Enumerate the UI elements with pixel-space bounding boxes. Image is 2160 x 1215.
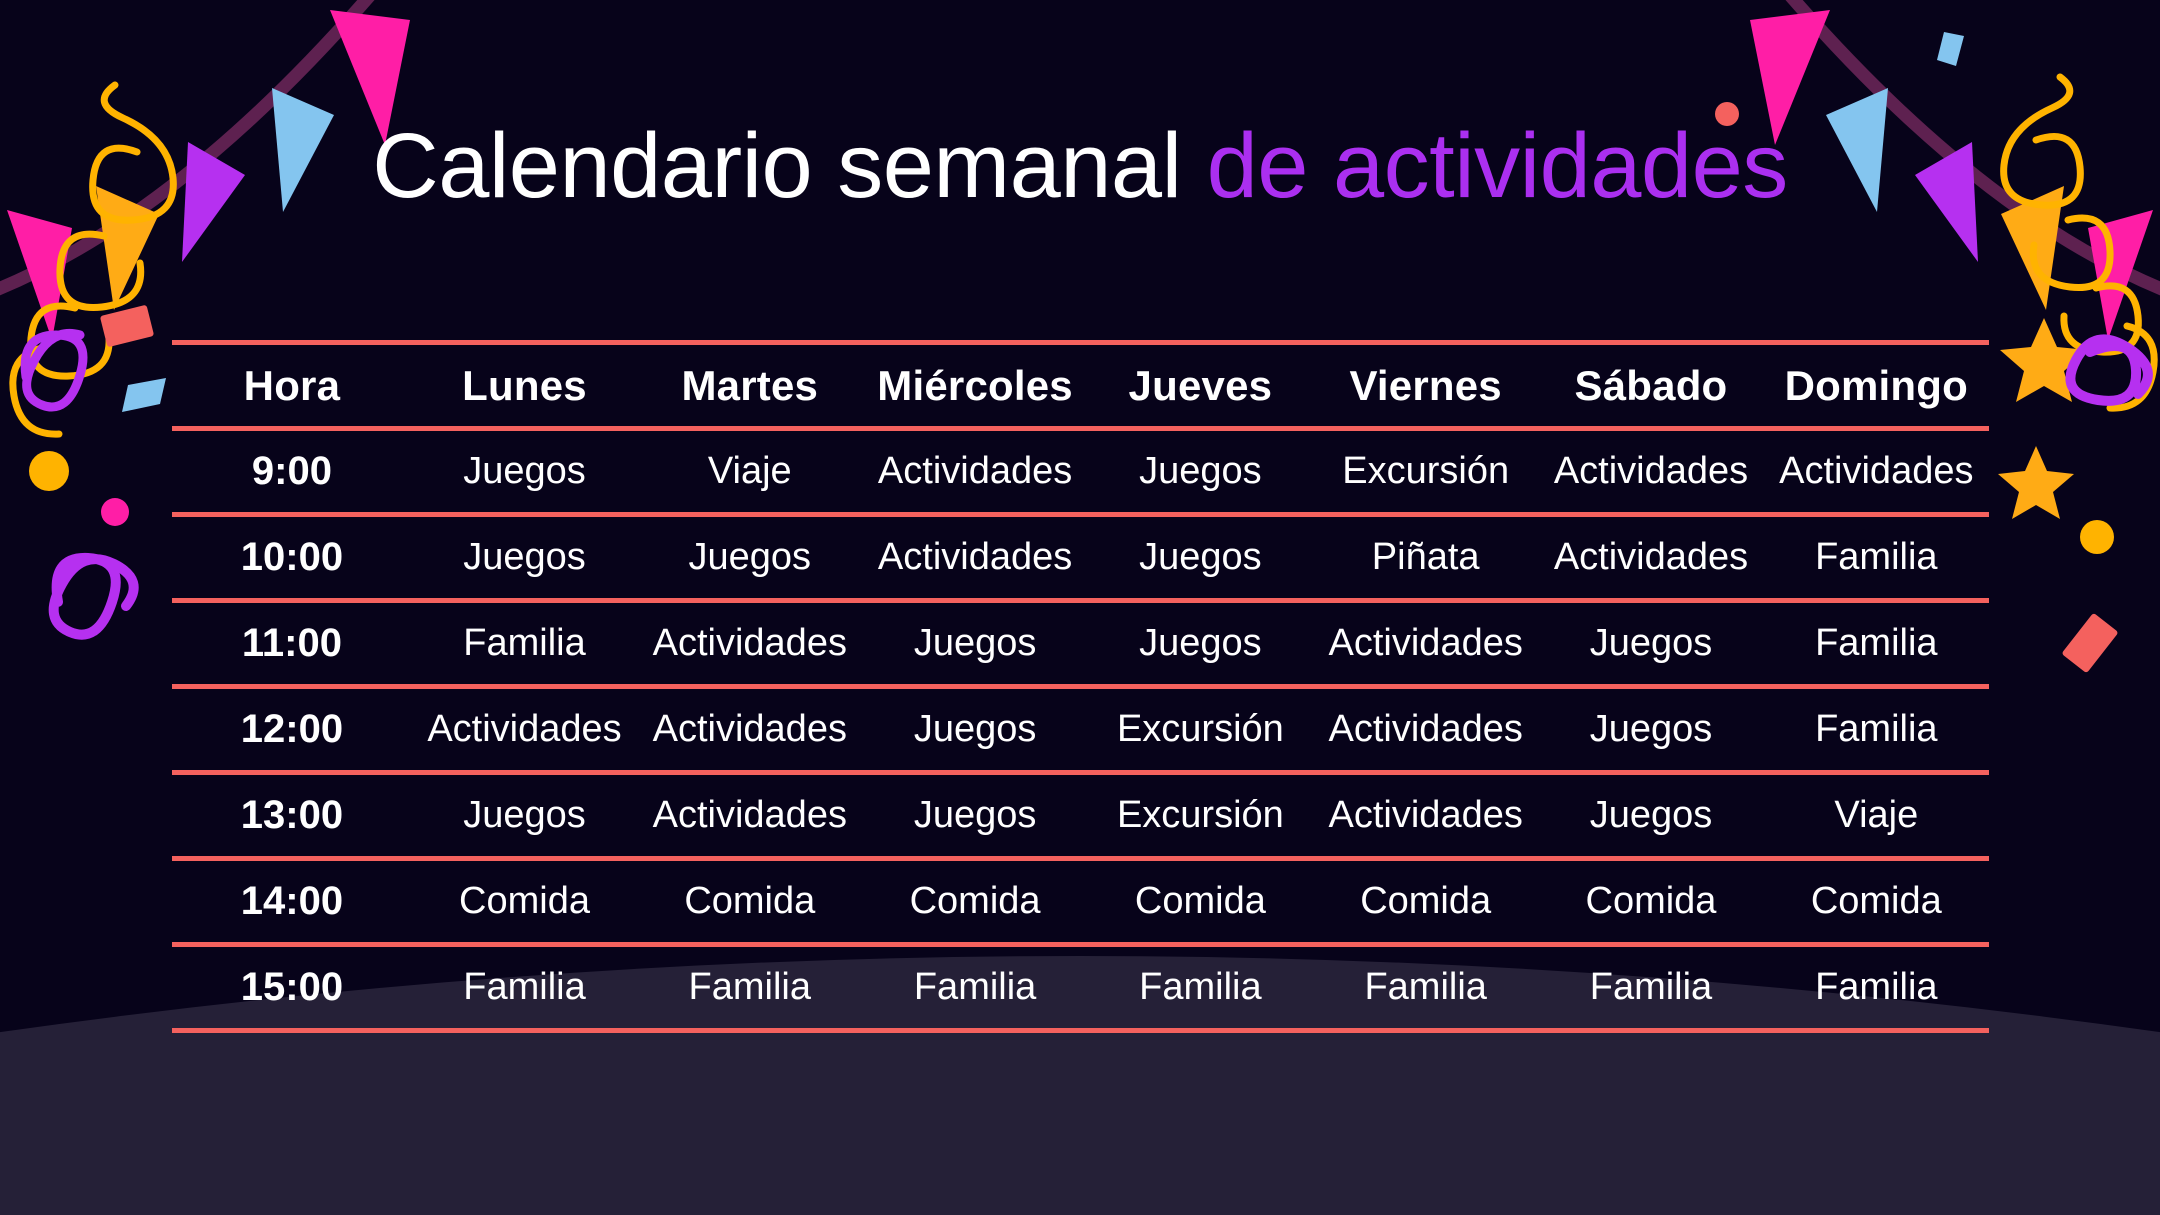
row-time-label: 15:00: [172, 945, 412, 1031]
cell-activity: Familia: [1313, 945, 1538, 1031]
cell-activity: Actividades: [637, 773, 862, 859]
cell-activity: Juegos: [1088, 601, 1313, 687]
cell-activity: Actividades: [1313, 601, 1538, 687]
star-yellow-right-upper: [2000, 318, 2088, 402]
cell-activity: Comida: [1313, 859, 1538, 945]
cell-activity: Familia: [1764, 515, 1989, 601]
table-row: 14:00 Comida Comida Comida Comida Comida…: [172, 859, 1989, 945]
cell-activity: Familia: [637, 945, 862, 1031]
cell-activity: Juegos: [1538, 687, 1763, 773]
cell-activity: Actividades: [862, 515, 1087, 601]
cell-activity: Juegos: [412, 429, 637, 515]
cell-activity: Comida: [1088, 859, 1313, 945]
cell-activity: Actividades: [1538, 429, 1763, 515]
rectangle-coral-left: [100, 305, 154, 348]
cell-activity: Familia: [1764, 687, 1989, 773]
row-time-label: 10:00: [172, 515, 412, 601]
cell-activity: Actividades: [637, 601, 862, 687]
column-header-lunes: Lunes: [412, 343, 637, 429]
cell-activity: Excursión: [1088, 687, 1313, 773]
row-time-label: 11:00: [172, 601, 412, 687]
table-row: 11:00 Familia Actividades Juegos Juegos …: [172, 601, 1989, 687]
squiggle-purple-left-lower: [54, 558, 134, 635]
cell-activity: Juegos: [862, 601, 1087, 687]
cell-activity: Excursión: [1313, 429, 1538, 515]
dot-pink-left: [101, 498, 129, 526]
column-header-domingo: Domingo: [1764, 343, 1989, 429]
cell-activity: Comida: [1764, 859, 1989, 945]
cell-activity: Actividades: [1538, 515, 1763, 601]
cell-activity: Viaje: [637, 429, 862, 515]
cell-activity: Comida: [862, 859, 1087, 945]
column-header-miercoles: Miércoles: [862, 343, 1087, 429]
cell-activity: Juegos: [412, 515, 637, 601]
page-title-primary: Calendario semanal: [372, 115, 1181, 217]
schedule-table-container: Hora Lunes Martes Miércoles Jueves Viern…: [172, 340, 1989, 1033]
column-header-jueves: Jueves: [1088, 343, 1313, 429]
cell-activity: Familia: [1088, 945, 1313, 1031]
cell-activity: Juegos: [1538, 773, 1763, 859]
row-time-label: 13:00: [172, 773, 412, 859]
cell-activity: Familia: [1764, 601, 1989, 687]
column-header-viernes: Viernes: [1313, 343, 1538, 429]
cell-activity: Comida: [412, 859, 637, 945]
page-title-accent: de actividades: [1207, 115, 1788, 217]
slide-canvas: Calendario semanal de actividades Hora L…: [0, 0, 2160, 1215]
cell-activity: Viaje: [1764, 773, 1989, 859]
cell-activity: Actividades: [412, 687, 637, 773]
cell-activity: Actividades: [1313, 687, 1538, 773]
cell-activity: Juegos: [862, 773, 1087, 859]
row-time-label: 14:00: [172, 859, 412, 945]
rectangle-coral-right: [2061, 613, 2118, 674]
column-header-hora: Hora: [172, 343, 412, 429]
cell-activity: Piñata: [1313, 515, 1538, 601]
table-header-row: Hora Lunes Martes Miércoles Jueves Viern…: [172, 343, 1989, 429]
cell-activity: Familia: [1538, 945, 1763, 1031]
table-row: 10:00 Juegos Juegos Actividades Juegos P…: [172, 515, 1989, 601]
cell-activity: Actividades: [637, 687, 862, 773]
cell-activity: Juegos: [1088, 429, 1313, 515]
dot-yellow-left: [29, 451, 69, 491]
cell-activity: Juegos: [1088, 515, 1313, 601]
table-row: 13:00 Juegos Actividades Juegos Excursió…: [172, 773, 1989, 859]
schedule-table-head: Hora Lunes Martes Miércoles Jueves Viern…: [172, 343, 1989, 429]
schedule-table-body: 9:00 Juegos Viaje Actividades Juegos Exc…: [172, 429, 1989, 1031]
table-row: 12:00 Actividades Actividades Juegos Exc…: [172, 687, 1989, 773]
cell-activity: Actividades: [1313, 773, 1538, 859]
weekly-schedule-table: Hora Lunes Martes Miércoles Jueves Viern…: [172, 340, 1989, 1033]
squiggle-purple-right: [2070, 339, 2148, 401]
cell-activity: Juegos: [1538, 601, 1763, 687]
row-time-label: 9:00: [172, 429, 412, 515]
squiggle-purple-left-upper: [25, 333, 83, 407]
cell-activity: Juegos: [412, 773, 637, 859]
column-header-sabado: Sábado: [1538, 343, 1763, 429]
table-row: 15:00 Familia Familia Familia Familia Fa…: [172, 945, 1989, 1031]
row-time-label: 12:00: [172, 687, 412, 773]
pennant-pink-2: [7, 210, 72, 340]
cell-activity: Familia: [1764, 945, 1989, 1031]
cell-activity: Familia: [412, 945, 637, 1031]
cell-activity: Excursión: [1088, 773, 1313, 859]
page-title-space: [1182, 115, 1207, 217]
cell-activity: Comida: [637, 859, 862, 945]
dot-yellow-right: [2080, 520, 2114, 554]
cell-activity: Familia: [412, 601, 637, 687]
parallelogram-blue-top-right: [1937, 32, 1964, 66]
page-title: Calendario semanal de actividades: [0, 118, 2160, 215]
cell-activity: Juegos: [637, 515, 862, 601]
cell-activity: Comida: [1538, 859, 1763, 945]
cell-activity: Juegos: [862, 687, 1087, 773]
cell-activity: Actividades: [1764, 429, 1989, 515]
parallelogram-blue-left: [122, 378, 166, 412]
cell-activity: Familia: [862, 945, 1087, 1031]
star-yellow-right-lower: [1998, 446, 2074, 519]
cell-activity: Actividades: [862, 429, 1087, 515]
table-row: 9:00 Juegos Viaje Actividades Juegos Exc…: [172, 429, 1989, 515]
pennant-pink-2: [2088, 210, 2153, 340]
column-header-martes: Martes: [637, 343, 862, 429]
